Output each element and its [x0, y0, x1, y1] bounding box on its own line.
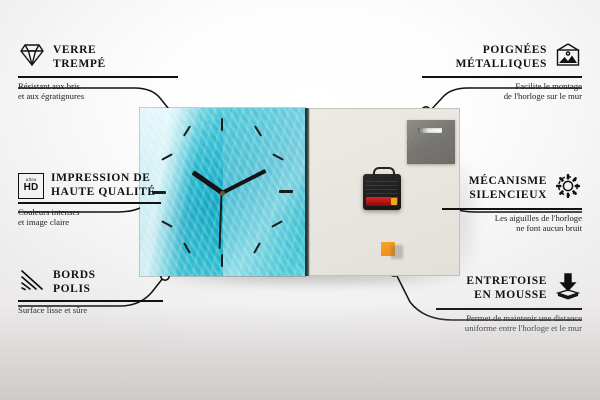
- callout-verre-trempe: VERRE TREMPÉ Résistant aux bris et aux é…: [18, 42, 178, 102]
- polished-edge-icon: [18, 268, 46, 297]
- mechanism-label-lines: [366, 178, 398, 194]
- callout-title: BORDS POLIS: [53, 269, 96, 296]
- foam-spacer: [381, 242, 395, 256]
- callout-poignees-metalliques: POIGNÉES MÉTALLIQUES Facilite le montage…: [422, 42, 582, 102]
- ultra-hd-icon: ultra HD: [18, 173, 44, 199]
- wall-mount-frame-icon: [554, 42, 582, 73]
- callout-rule: [436, 308, 582, 310]
- callout-title: ENTRETOISE EN MOUSSE: [466, 275, 547, 302]
- callout-subtitle: Facilite le montage de l'horloge sur le …: [422, 81, 582, 102]
- quartz-mechanism: [363, 174, 401, 210]
- callout-entretoise-en-mousse: ENTRETOISE EN MOUSSE Permet de maintenir…: [436, 272, 582, 334]
- battery-plus-terminal: [391, 198, 397, 205]
- callout-subtitle: Les aiguilles de l'horloge ne font aucun…: [442, 213, 582, 234]
- mechanism-hanging-loop: [373, 167, 395, 178]
- callout-bords-polis: BORDS POLIS Surface lisse et sûre: [18, 268, 163, 315]
- callout-rule: [18, 300, 163, 302]
- callout-mecanisme-silencieux: MÉCANISME SILENCIEUX Les aiguilles de l'…: [442, 172, 582, 234]
- battery: [366, 197, 398, 206]
- callout-title: IMPRESSION DE HAUTE QUALITÉ: [51, 172, 156, 199]
- callout-subtitle: Résistant aux bris et aux égratignures: [18, 81, 178, 102]
- callout-rule: [422, 76, 582, 78]
- callout-rule: [18, 202, 161, 204]
- product-horloge: [140, 108, 460, 276]
- callout-subtitle: Surface lisse et sûre: [18, 305, 163, 316]
- callout-impression-haute-qualite: ultra HD IMPRESSION DE HAUTE QUALITÉ Cou…: [18, 172, 161, 228]
- callout-rule: [18, 76, 178, 78]
- callout-title: POIGNÉES MÉTALLIQUES: [456, 44, 547, 71]
- callout-subtitle: Permet de maintenir une distance uniform…: [436, 313, 582, 334]
- hanger-keyhole-slot: [418, 128, 442, 133]
- callout-title: MÉCANISME SILENCIEUX: [469, 175, 547, 202]
- callout-rule: [442, 208, 582, 210]
- clock-tick-3: [279, 190, 293, 193]
- foam-spacer-arrow-icon: [554, 272, 582, 305]
- gear-icon: [554, 172, 582, 205]
- metal-hanger: [407, 120, 455, 164]
- diamond-icon: [18, 42, 46, 73]
- callout-title: VERRE TREMPÉ: [53, 44, 106, 71]
- clock-back-panel: [309, 108, 460, 276]
- clock-center-hub: [220, 191, 225, 196]
- foam-spacer-shadow: [391, 245, 403, 259]
- infographic-canvas: VERRE TREMPÉ Résistant aux bris et aux é…: [0, 0, 600, 400]
- clock-tick-6: [221, 254, 223, 267]
- callout-subtitle: Couleurs intenses et image claire: [18, 207, 161, 228]
- clock-front-face: [140, 108, 305, 276]
- clock-tick-12: [221, 118, 223, 131]
